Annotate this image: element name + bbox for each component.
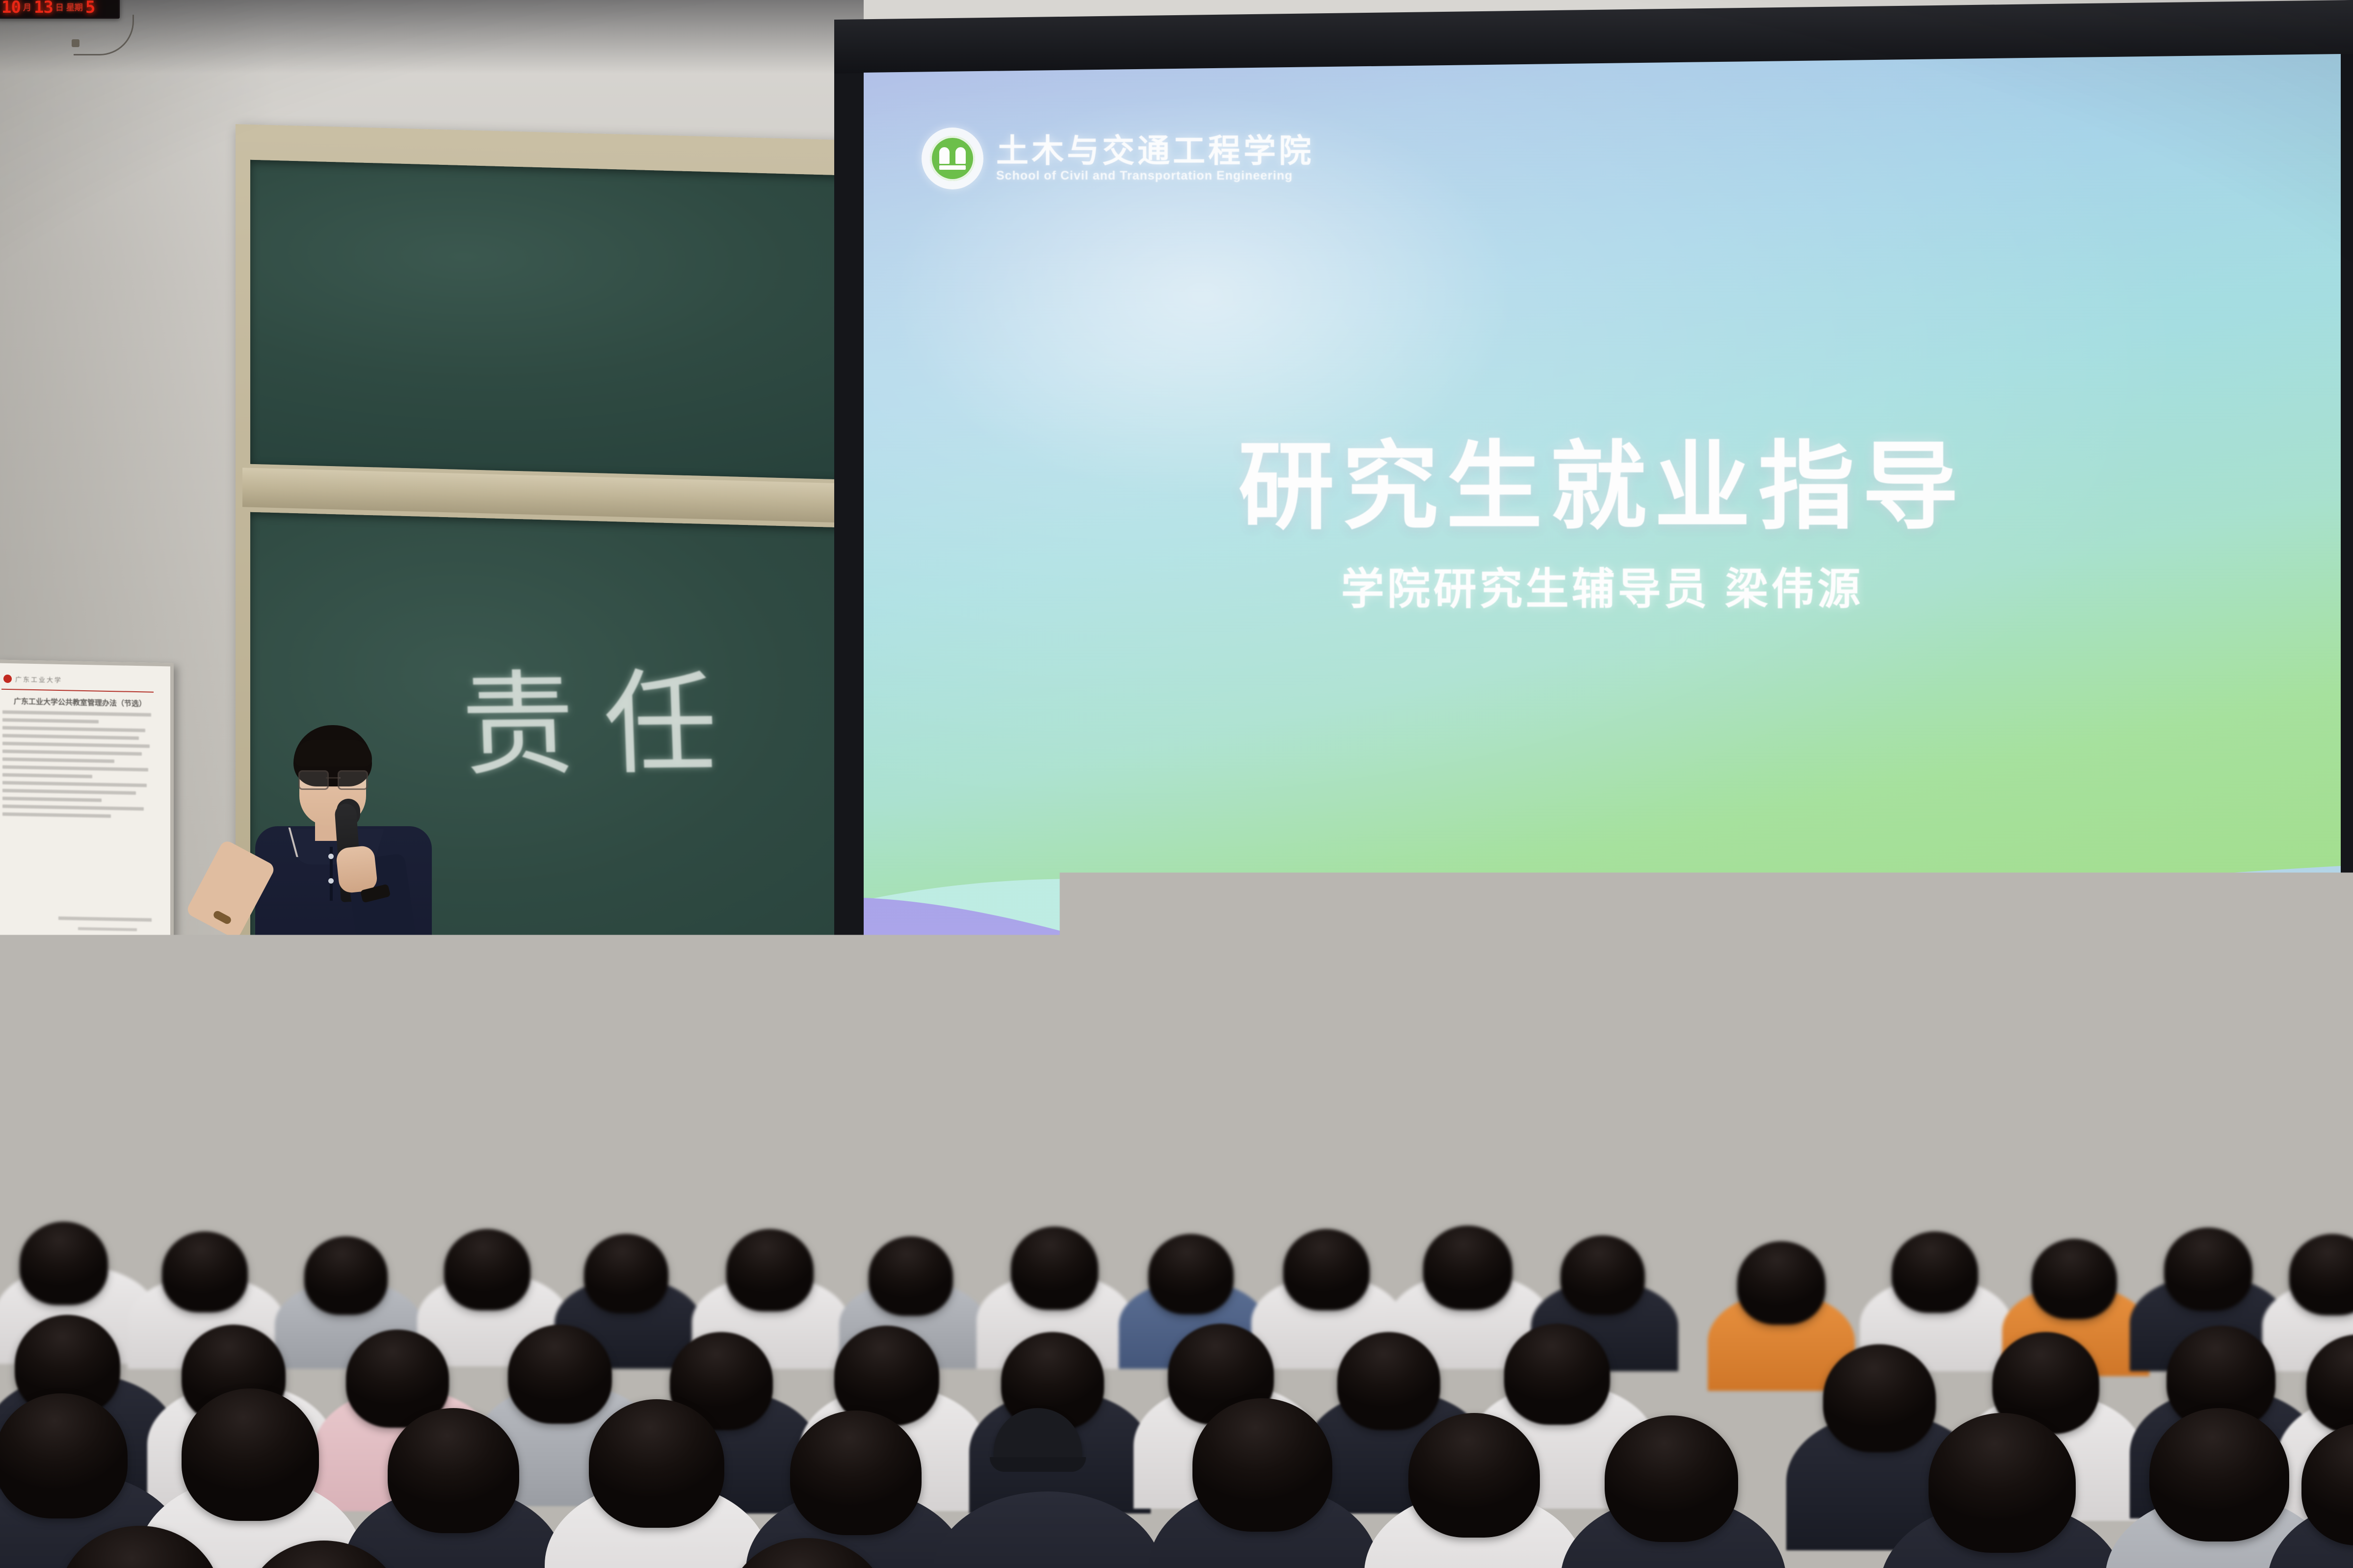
cap-brim <box>990 1457 1086 1472</box>
presenter-shirt-button <box>328 854 334 859</box>
water-bottle <box>304 996 330 1074</box>
audience-head <box>444 1229 530 1310</box>
audience-head <box>1605 1415 1738 1542</box>
audience-head <box>2164 1228 2252 1311</box>
glasses-lens-left <box>298 770 329 790</box>
glasses-lens-right <box>338 770 368 790</box>
projection-screen-surface: 土木与交通工程学院 School of Civil and Transporta… <box>864 54 2341 1062</box>
audience-head <box>1337 1332 1440 1430</box>
clock-weekday-value: 5 <box>85 0 95 16</box>
audience-head <box>584 1234 668 1313</box>
notice-divider <box>1 689 154 693</box>
blackboard-eraser <box>572 1024 616 1040</box>
audience-head <box>790 1411 922 1535</box>
bottle-cap <box>365 983 383 998</box>
screen-texture <box>864 54 2341 1062</box>
audience-head <box>20 1222 108 1305</box>
notice-date-line <box>78 927 137 931</box>
chalkboard-writing: 责任 <box>458 631 748 797</box>
chalkboard-panel-upper <box>250 160 861 480</box>
clock-month-unit: 月 <box>23 3 31 12</box>
clock-day: 13 <box>34 0 53 16</box>
audience-head <box>2032 1239 2117 1319</box>
notice-header: 广东工业大学 <box>3 672 151 688</box>
audience-head <box>869 1236 953 1316</box>
presenter-hand <box>335 845 378 894</box>
bottle-label <box>304 1021 330 1056</box>
notice-body-text <box>2 710 158 823</box>
audience-head <box>1148 1234 1234 1314</box>
audience-head <box>1892 1231 1978 1313</box>
clock-day-unit: 日 <box>55 3 64 12</box>
audience-head <box>1192 1398 1332 1532</box>
audience-head <box>1504 1324 1610 1425</box>
university-seal-icon <box>3 674 12 682</box>
audience-head <box>726 1229 814 1311</box>
notice-title: 广东工业大学公共教室管理办法（节选） <box>1 696 159 709</box>
audience-head <box>1011 1227 1098 1310</box>
audience-head <box>388 1408 519 1533</box>
wall-shadow-left <box>0 0 275 1124</box>
presenter <box>255 725 451 1069</box>
presenter-glasses-icon <box>298 770 368 787</box>
audience-head <box>1283 1229 1370 1310</box>
audience-head <box>2149 1408 2289 1542</box>
framed-notice-board: 广东工业大学 广东工业大学公共教室管理办法（节选） <box>0 660 174 947</box>
lecture-hall-scene: 10 月 13 日 星期 5 广东工业大学 广东工业大学公共教室管理办法（节选） <box>0 0 2353 1568</box>
audience-head <box>1823 1344 1936 1452</box>
water-bottle <box>361 996 387 1074</box>
audience-head <box>1408 1413 1540 1538</box>
wire-anchor <box>72 39 79 47</box>
audience-head <box>304 1236 388 1315</box>
clock-weekday-label: 星期 <box>66 3 83 12</box>
audience-head <box>1423 1226 1512 1310</box>
audience-head <box>1737 1241 1825 1325</box>
clock-month: 10 <box>1 0 21 16</box>
wall-notice-paper <box>1821 1182 1884 1241</box>
audience-area: luckin coffee <box>0 1070 2353 1568</box>
audience-head <box>162 1231 248 1312</box>
audience-head <box>589 1399 724 1528</box>
bottle-label <box>361 1021 387 1056</box>
audience-head <box>0 1393 128 1518</box>
bottle-cap <box>308 983 326 998</box>
audience-head <box>1929 1413 2076 1553</box>
audience-head <box>508 1325 612 1424</box>
presenter-shirt-button <box>328 878 334 884</box>
presenter-fringe <box>294 740 372 766</box>
audience-head <box>182 1388 319 1521</box>
audience-head <box>1560 1235 1645 1315</box>
notice-university-name: 广东工业大学 <box>15 674 62 684</box>
notice-signature <box>58 916 152 922</box>
wall-notice-paper <box>1124 1104 1232 1202</box>
